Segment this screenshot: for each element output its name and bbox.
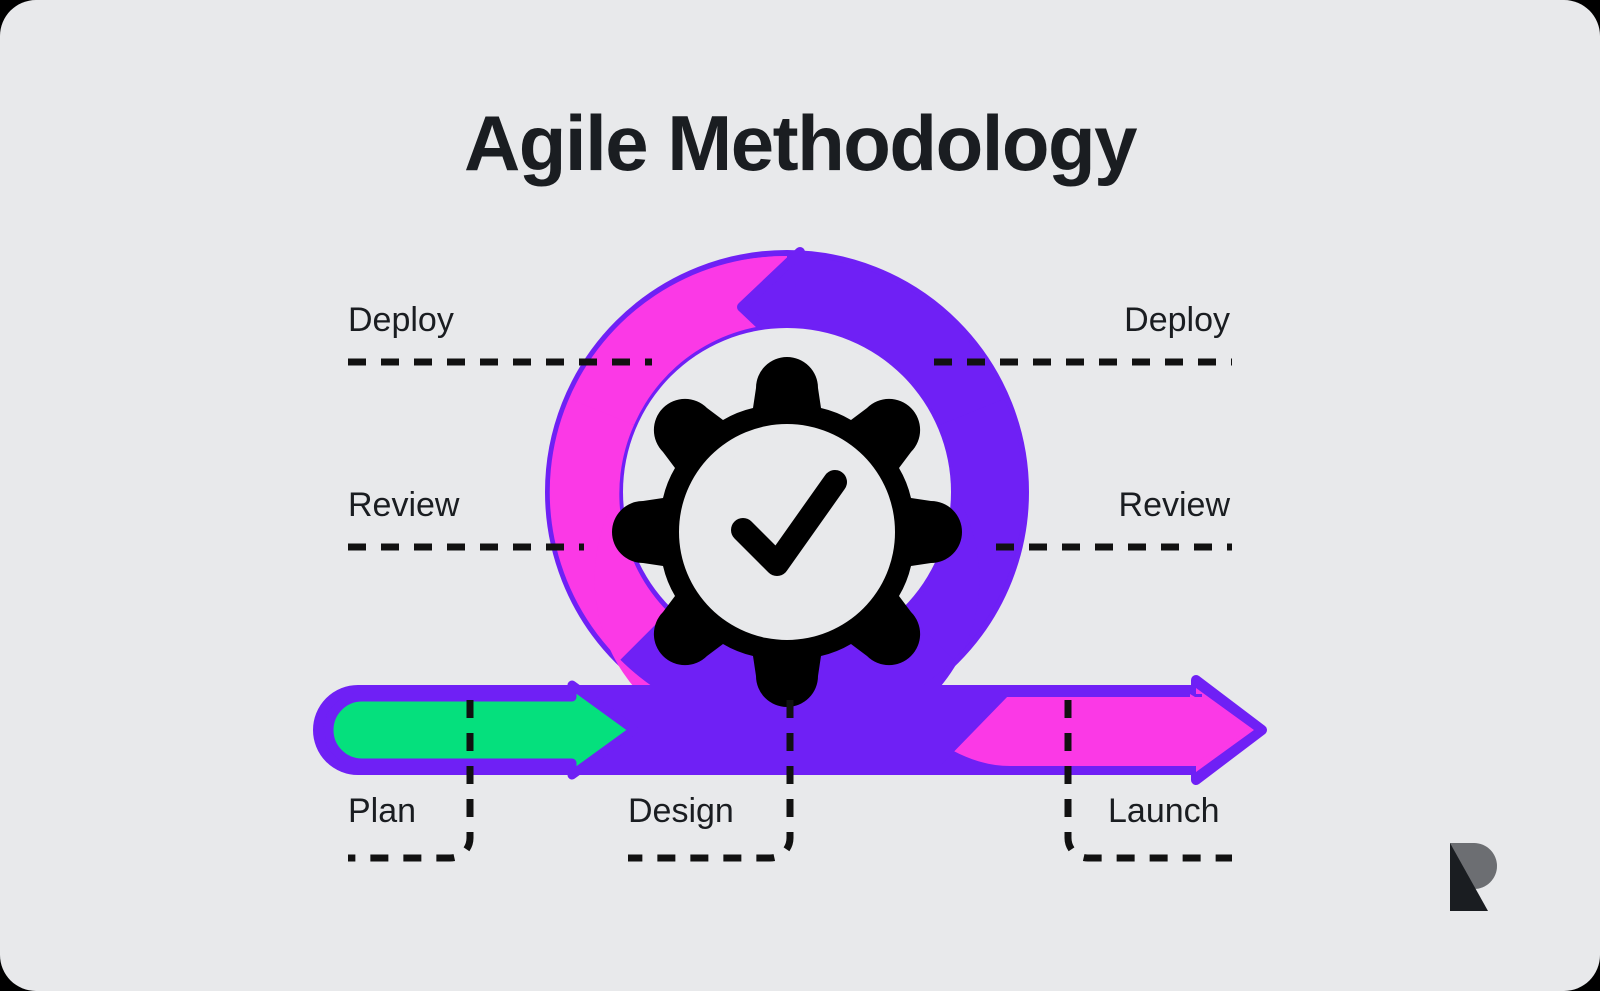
timeline-segment-plan (329, 685, 634, 775)
brand-logo-r (1444, 841, 1502, 913)
label-deploy-left: Deploy (348, 301, 454, 340)
infographic-card: Agile Methodology (0, 0, 1600, 991)
label-review-right: Review (930, 486, 1230, 525)
agile-cycle-diagram (0, 0, 1600, 991)
label-plan: Plan (348, 792, 416, 831)
timeline-segment-launch-body (1010, 697, 1202, 766)
gear-check-icon (612, 357, 962, 707)
label-design: Design (628, 792, 734, 831)
label-review-left: Review (348, 486, 459, 525)
label-launch: Launch (1108, 792, 1220, 831)
label-deploy-right: Deploy (930, 301, 1230, 340)
